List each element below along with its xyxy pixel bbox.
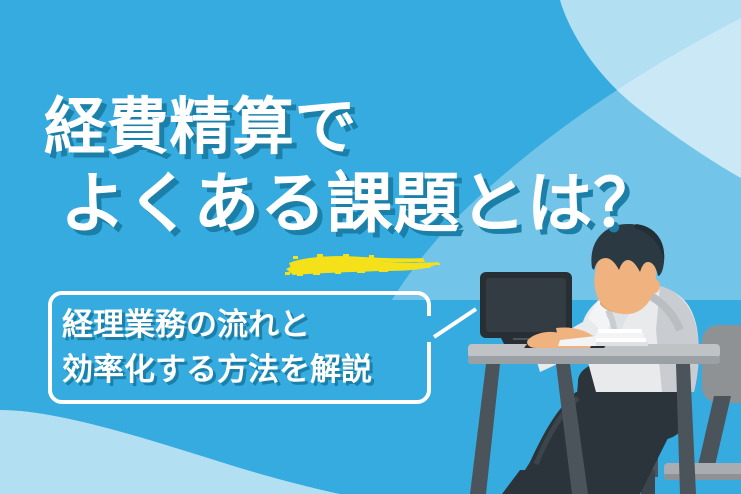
- subtitle-box: [48, 291, 431, 404]
- diagonal-accent-line-icon: [432, 306, 478, 340]
- office-worker-illustration: [0, 0, 741, 494]
- banner-graphic: 経費精算で よくある課題とは？ 経理業務の流れと 効率化する方法を解説: [0, 0, 741, 494]
- yellow-brush-underline: [283, 253, 443, 277]
